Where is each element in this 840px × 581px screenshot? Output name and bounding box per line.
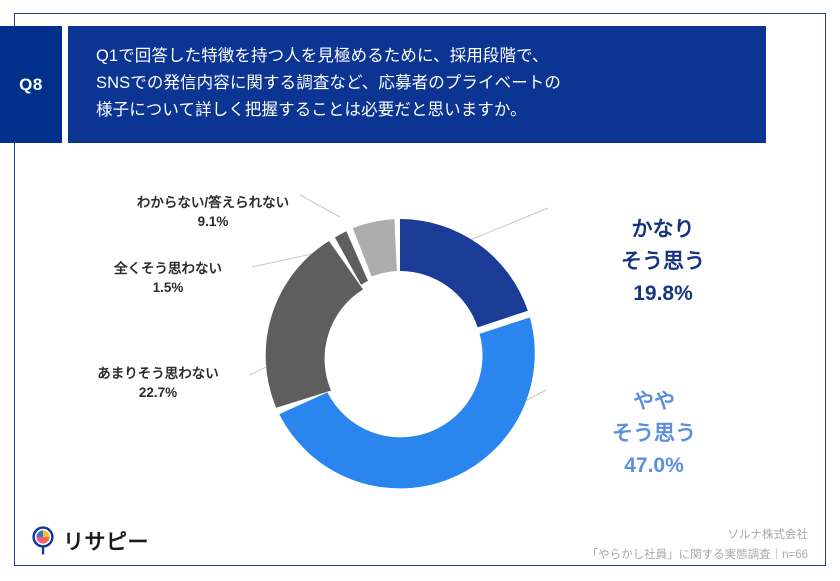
label-somewhat-pct: 47.0% bbox=[548, 450, 760, 482]
question-number-label: Q8 bbox=[19, 75, 43, 95]
slide-footer: リサピー ソルナ株式会社 「やらかし社員」に関する実態調査｜n=66 bbox=[0, 513, 840, 581]
brand-logo[interactable]: リサピー bbox=[30, 526, 149, 556]
label-quite-pct: 19.8% bbox=[570, 278, 756, 310]
label-notmuch-pct: 22.7% bbox=[58, 383, 258, 402]
label-notatall: 全くそう思わない 1.5% bbox=[78, 240, 258, 317]
magnifier-pie-icon bbox=[30, 526, 56, 556]
credit-company: ソルナ株式会社 bbox=[587, 525, 808, 545]
leader-line-quite bbox=[470, 208, 548, 240]
label-somewhat: やや そう思う 47.0% bbox=[548, 354, 760, 514]
label-quite-name: かなり そう思う bbox=[621, 218, 705, 273]
label-dontknow-pct: 9.1% bbox=[108, 212, 318, 231]
donut-chart: わからない/答えられない 9.1% 全くそう思わない 1.5% あまりそう思わな… bbox=[0, 150, 840, 510]
segment-notmuch[interactable] bbox=[266, 241, 363, 408]
question-text-box: Q1で回答した特徴を持つ人を見極めるために、採用段階で、 SNSでの発信内容に関… bbox=[68, 26, 766, 143]
question-number-badge: Q8 bbox=[0, 26, 62, 143]
survey-credit: ソルナ株式会社 「やらかし社員」に関する実態調査｜n=66 bbox=[587, 525, 808, 565]
label-somewhat-name: やや そう思う bbox=[612, 390, 696, 445]
question-header: Q8 Q1で回答した特徴を持つ人を見極めるために、採用段階で、 SNSでの発信内… bbox=[0, 26, 766, 143]
label-dontknow-name: わからない/答えられない bbox=[137, 195, 289, 210]
label-notmuch: あまりそう思わない 22.7% bbox=[58, 345, 258, 422]
question-text: Q1で回答した特徴を持つ人を見極めるために、採用段階で、 SNSでの発信内容に関… bbox=[96, 43, 561, 123]
segment-quite[interactable] bbox=[400, 219, 528, 327]
label-notatall-pct: 1.5% bbox=[78, 278, 258, 297]
label-quite: かなり そう思う 19.8% bbox=[570, 182, 756, 342]
credit-survey: 「やらかし社員」に関する実態調査｜n=66 bbox=[587, 545, 808, 565]
slide-canvas: Q8 Q1で回答した特徴を持つ人を見極めるために、採用段階で、 SNSでの発信内… bbox=[0, 0, 840, 581]
label-notatall-name: 全くそう思わない bbox=[114, 261, 222, 276]
label-notmuch-name: あまりそう思わない bbox=[97, 366, 219, 381]
brand-logo-text: リサピー bbox=[63, 526, 149, 556]
